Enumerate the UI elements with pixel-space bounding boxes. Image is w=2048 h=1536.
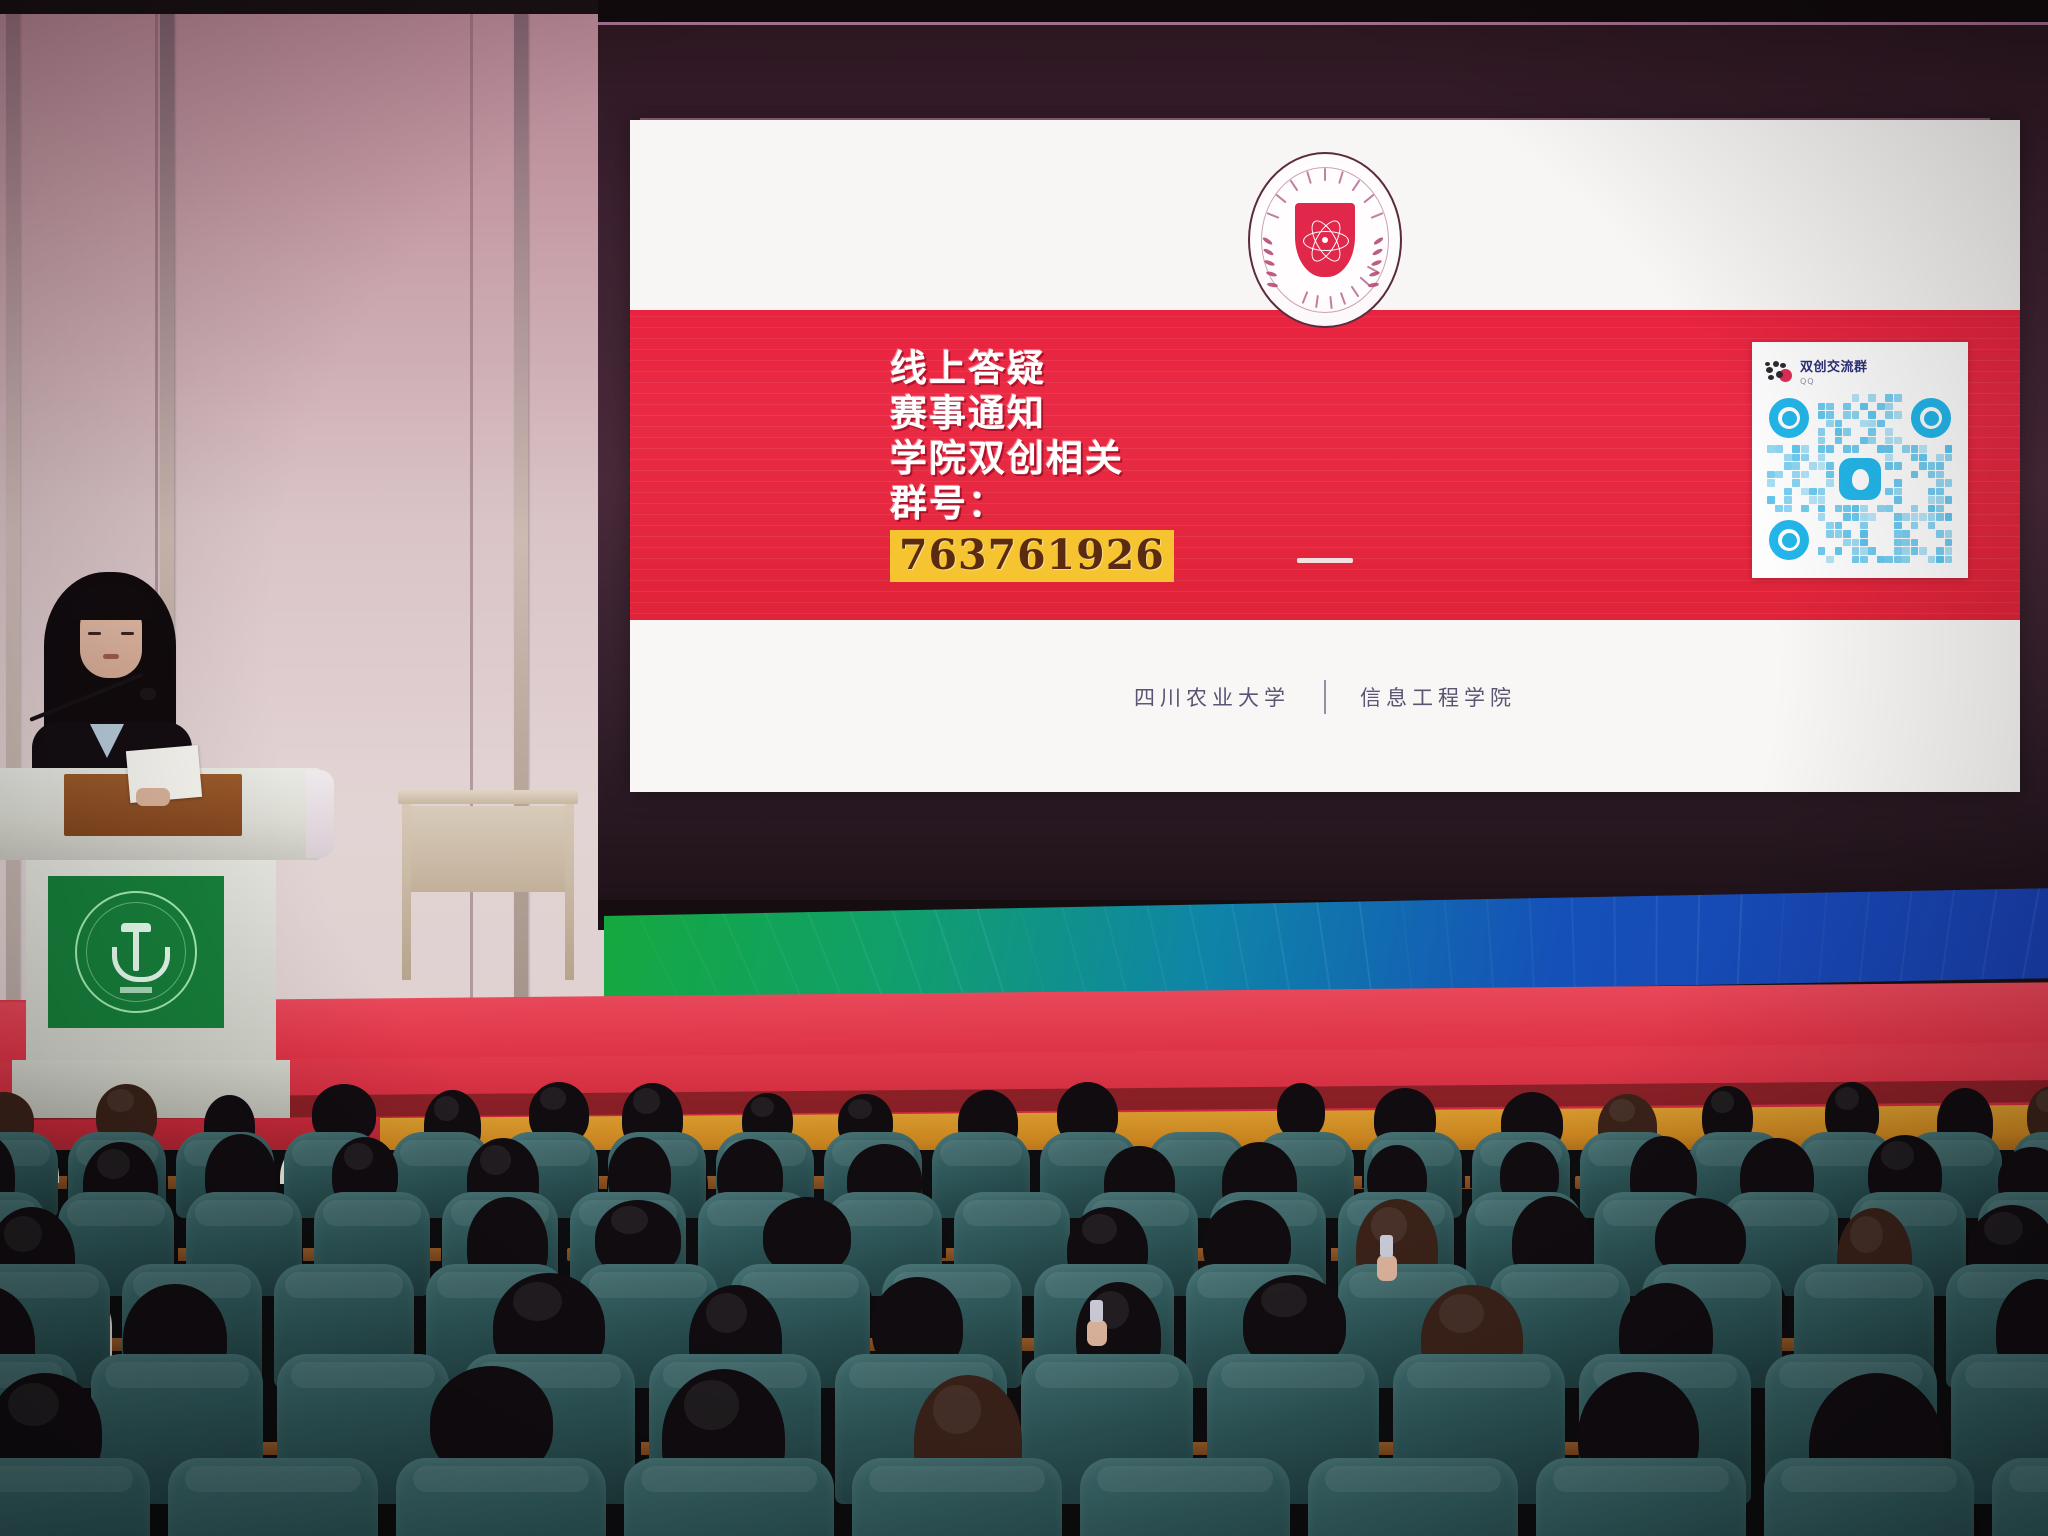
footer-college-name: 信息工程学院 bbox=[1360, 682, 1516, 712]
atom-icon bbox=[1303, 218, 1347, 262]
ceiling-shadow bbox=[0, 0, 612, 14]
presenter-fringe bbox=[70, 586, 152, 620]
stage-side-table bbox=[398, 790, 578, 980]
qr-finder-top-left bbox=[1769, 398, 1809, 438]
slide-line-3: 学院双创相关 bbox=[890, 436, 1174, 481]
laurel-wreath-left bbox=[1260, 233, 1286, 293]
qr-finder-top-right bbox=[1911, 398, 1951, 438]
footer-university-name: 四川农业大学 bbox=[1134, 682, 1290, 712]
screen-frame-glow bbox=[598, 22, 2048, 25]
presenter-hand bbox=[136, 788, 170, 806]
qr-group-subtitle: QQ bbox=[1800, 377, 1868, 386]
table-leg-left bbox=[402, 804, 411, 980]
slide-line-2: 赛事通知 bbox=[890, 391, 1174, 436]
podium-university-logo bbox=[48, 876, 224, 1028]
microphone-icon bbox=[140, 688, 156, 700]
slide-text-block: 线上答疑 赛事通知 学院双创相关 群号： 763761926 bbox=[890, 346, 1174, 582]
qr-center-penguin-logo bbox=[1839, 458, 1881, 500]
speaker-podium bbox=[0, 768, 320, 1118]
slide-line-4: 群号： bbox=[890, 481, 1174, 526]
lecture-hall-scene: 线上答疑 赛事通知 学院双创相关 群号： 763761926 双创交流群 QQ bbox=[0, 0, 2048, 1536]
table-leg-right bbox=[565, 804, 574, 980]
group-avatar-icon bbox=[1764, 357, 1792, 385]
group-number-highlight: 763761926 bbox=[890, 530, 1174, 582]
qr-group-title: 双创交流群 bbox=[1800, 356, 1868, 375]
screen-frame-top-bar bbox=[598, 0, 2048, 22]
slide-line-1: 线上答疑 bbox=[890, 346, 1174, 391]
qr-finder-bottom-left bbox=[1769, 520, 1809, 560]
university-emblem bbox=[1248, 152, 1402, 328]
slide-footer: 四川农业大学 信息工程学院 bbox=[630, 680, 2020, 714]
presentation-slide: 线上答疑 赛事通知 学院双创相关 群号： 763761926 双创交流群 QQ bbox=[630, 120, 2020, 792]
footer-divider bbox=[1324, 680, 1326, 714]
table-apron bbox=[404, 806, 572, 892]
qr-code-card[interactable]: 双创交流群 QQ bbox=[1752, 342, 1968, 578]
qr-code-image[interactable] bbox=[1767, 394, 1953, 564]
qr-card-header: 双创交流群 QQ bbox=[1764, 352, 1956, 390]
slide-decor-dash bbox=[1297, 558, 1353, 563]
podium-side-cap bbox=[306, 770, 334, 858]
audience-seating bbox=[0, 1140, 2048, 1536]
emblem-shield bbox=[1293, 201, 1357, 279]
university-seal-icon bbox=[75, 891, 197, 1013]
table-top bbox=[398, 790, 578, 804]
